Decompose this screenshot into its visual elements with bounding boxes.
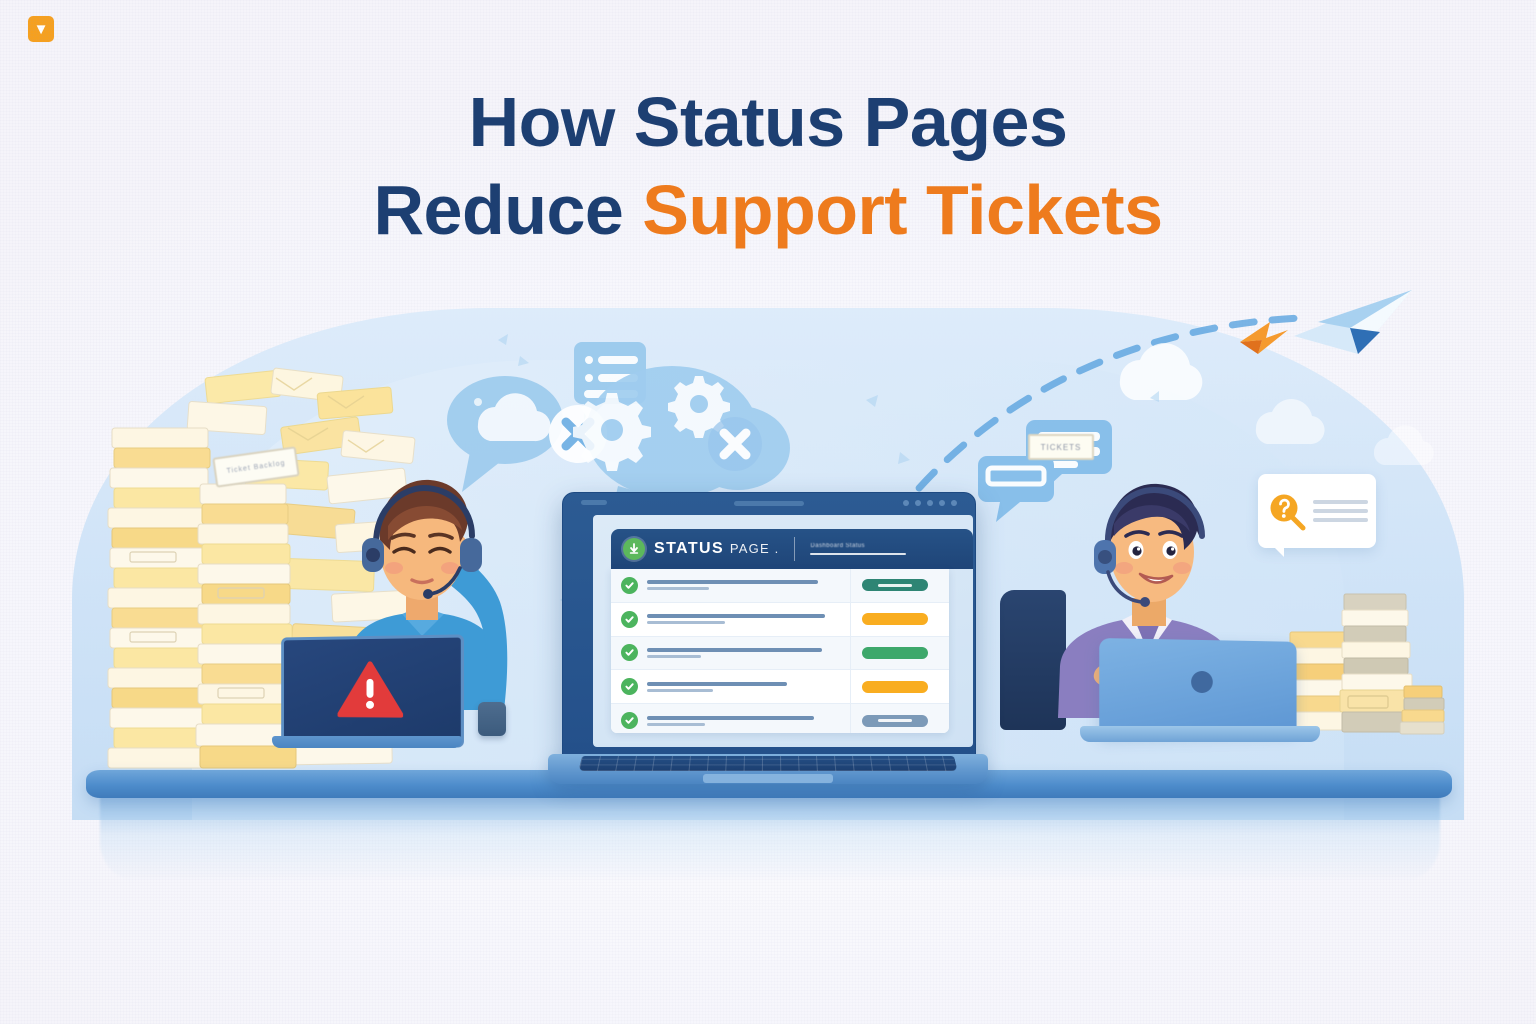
status-page-title: STATUS PAGE . (654, 540, 779, 558)
laptop-logo-icon (1191, 671, 1213, 693)
row-text-placeholder (647, 614, 841, 624)
laptop-keyboard[interactable] (578, 756, 957, 771)
laptop-screen: STATUS PAGE . Dashboard Status (593, 515, 973, 747)
left-laptop (272, 636, 462, 752)
status-led-dots (903, 500, 957, 506)
paper-plane-icon (1288, 288, 1418, 370)
check-circle-icon (621, 678, 638, 695)
status-page-title-bold: STATUS (654, 540, 724, 557)
check-circle-icon (621, 611, 638, 628)
row-text-placeholder (647, 648, 841, 658)
status-row[interactable] (611, 637, 949, 671)
row-text-placeholder (647, 580, 841, 590)
status-badge[interactable] (862, 579, 928, 591)
orange-arrow-icon (1236, 316, 1296, 360)
status-pill-cell (850, 670, 939, 703)
header-divider (794, 537, 795, 561)
status-page-header: STATUS PAGE . Dashboard Status (611, 529, 973, 569)
status-page-rows (611, 569, 949, 733)
page-title: How Status Pages Reduce Support Tickets (0, 78, 1536, 254)
download-circle-icon (623, 538, 645, 560)
status-row[interactable] (611, 603, 949, 637)
status-badge[interactable] (862, 647, 928, 659)
status-pill-cell (850, 704, 939, 733)
status-pill-cell (850, 603, 939, 636)
status-page-meta-rule (810, 553, 906, 555)
right-laptop-base (1080, 726, 1320, 742)
row-text-placeholder (647, 716, 841, 726)
status-badge[interactable] (862, 715, 928, 727)
status-page-meta: Dashboard Status (810, 543, 961, 555)
status-page-laptop: STATUS PAGE . Dashboard Status (548, 492, 988, 792)
laptop-lid: STATUS PAGE . Dashboard Status (562, 492, 976, 762)
tickets-label: TICKETS (1028, 434, 1094, 460)
warning-triangle-icon (338, 661, 404, 720)
check-circle-icon (621, 712, 638, 729)
right-scene-happy-support: TICKETS (1000, 440, 1470, 790)
laptop-trackpad[interactable] (703, 774, 833, 783)
status-row[interactable] (611, 670, 949, 704)
webcam-bar (734, 501, 804, 506)
send-badge-icon: ▼ (28, 16, 54, 42)
check-circle-icon (621, 644, 638, 661)
check-circle-icon (621, 577, 638, 594)
title-line-2: Reduce Support Tickets (0, 166, 1536, 254)
lid-marker (581, 500, 607, 505)
status-row[interactable] (611, 569, 949, 603)
left-scene-overloaded-support: Ticket Backlog (96, 356, 526, 786)
status-badge[interactable] (862, 613, 928, 625)
row-text-placeholder (647, 682, 841, 692)
illustration-canvas: ▼ (0, 0, 1536, 1024)
title-line-1: How Status Pages (0, 78, 1536, 166)
status-badge[interactable] (862, 681, 928, 693)
status-page-meta-text: Dashboard Status (810, 543, 961, 549)
mouse-icon (478, 702, 506, 736)
title-line-2-accent: Support Tickets (642, 171, 1162, 249)
right-laptop-lid (1099, 638, 1296, 734)
left-laptop-screen (281, 634, 464, 747)
status-pill-cell (850, 637, 939, 670)
title-line-2-plain: Reduce (373, 171, 642, 249)
status-page-title-light: PAGE . (730, 541, 780, 556)
right-laptop (1080, 640, 1320, 750)
left-laptop-base (272, 736, 462, 748)
status-row[interactable] (611, 704, 949, 733)
desk-reflection (100, 796, 1440, 882)
status-pill-cell (850, 569, 939, 602)
